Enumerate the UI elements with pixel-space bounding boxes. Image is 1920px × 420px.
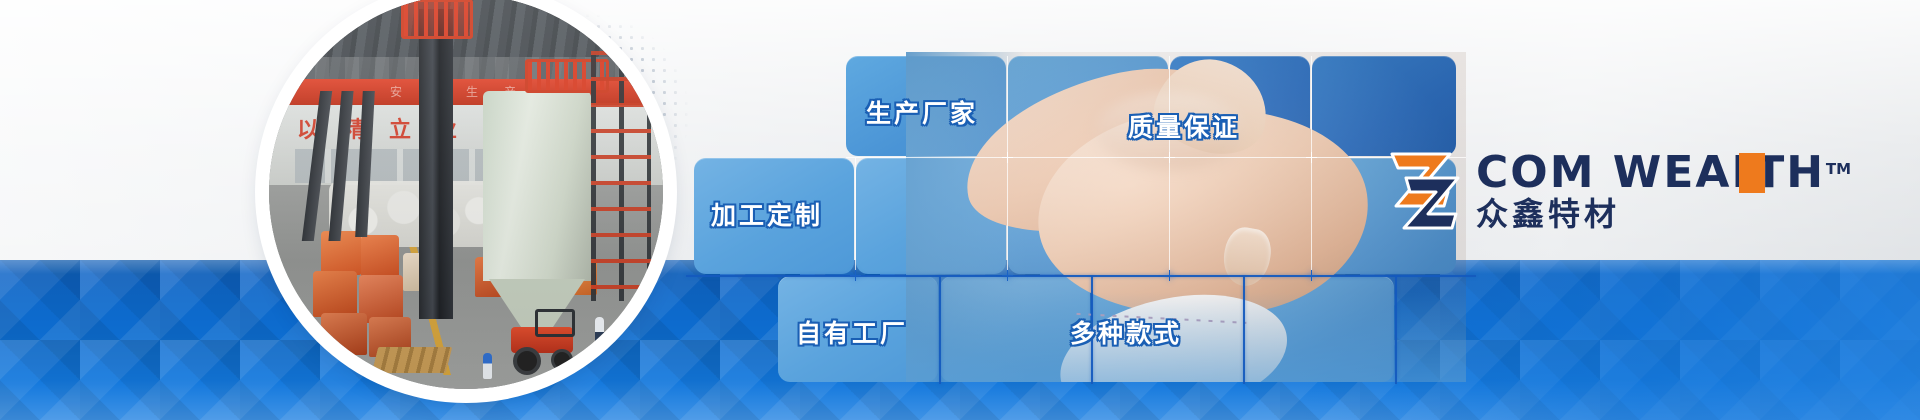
logo-wordmark: COM WEALTH TM 众鑫特材	[1476, 151, 1825, 231]
promo-banner: 安全生产 以精立业	[0, 0, 1920, 420]
z-mark-icon	[1388, 152, 1462, 230]
trademark-symbol: TM	[1826, 147, 1851, 191]
tile-label-manufacturer: 生产厂家	[866, 94, 978, 130]
logo-english-name: COM WEALTH TM	[1476, 151, 1825, 195]
logo-accent-block	[1739, 153, 1765, 193]
handshake-image	[906, 52, 1466, 382]
tile-label-quality-guarantee: 质量保证	[1128, 108, 1240, 144]
logo-chinese-name: 众鑫特材	[1476, 197, 1825, 231]
tile-label-custom-processing: 加工定制	[711, 196, 823, 232]
tile-label-multiple-styles: 多种款式	[1070, 314, 1182, 350]
handshake-bottom-fade	[906, 292, 1466, 382]
company-logo[interactable]: COM WEALTH TM 众鑫特材	[1388, 148, 1818, 234]
factory-photo: 安全生产 以精立业	[269, 0, 663, 389]
photo-light-haze	[269, 0, 663, 389]
factory-photo-frame: 安全生产 以精立业	[262, 0, 670, 396]
tile-label-own-factory: 自有工厂	[796, 314, 908, 350]
logo-english-text: COM WEALTH	[1476, 147, 1825, 198]
